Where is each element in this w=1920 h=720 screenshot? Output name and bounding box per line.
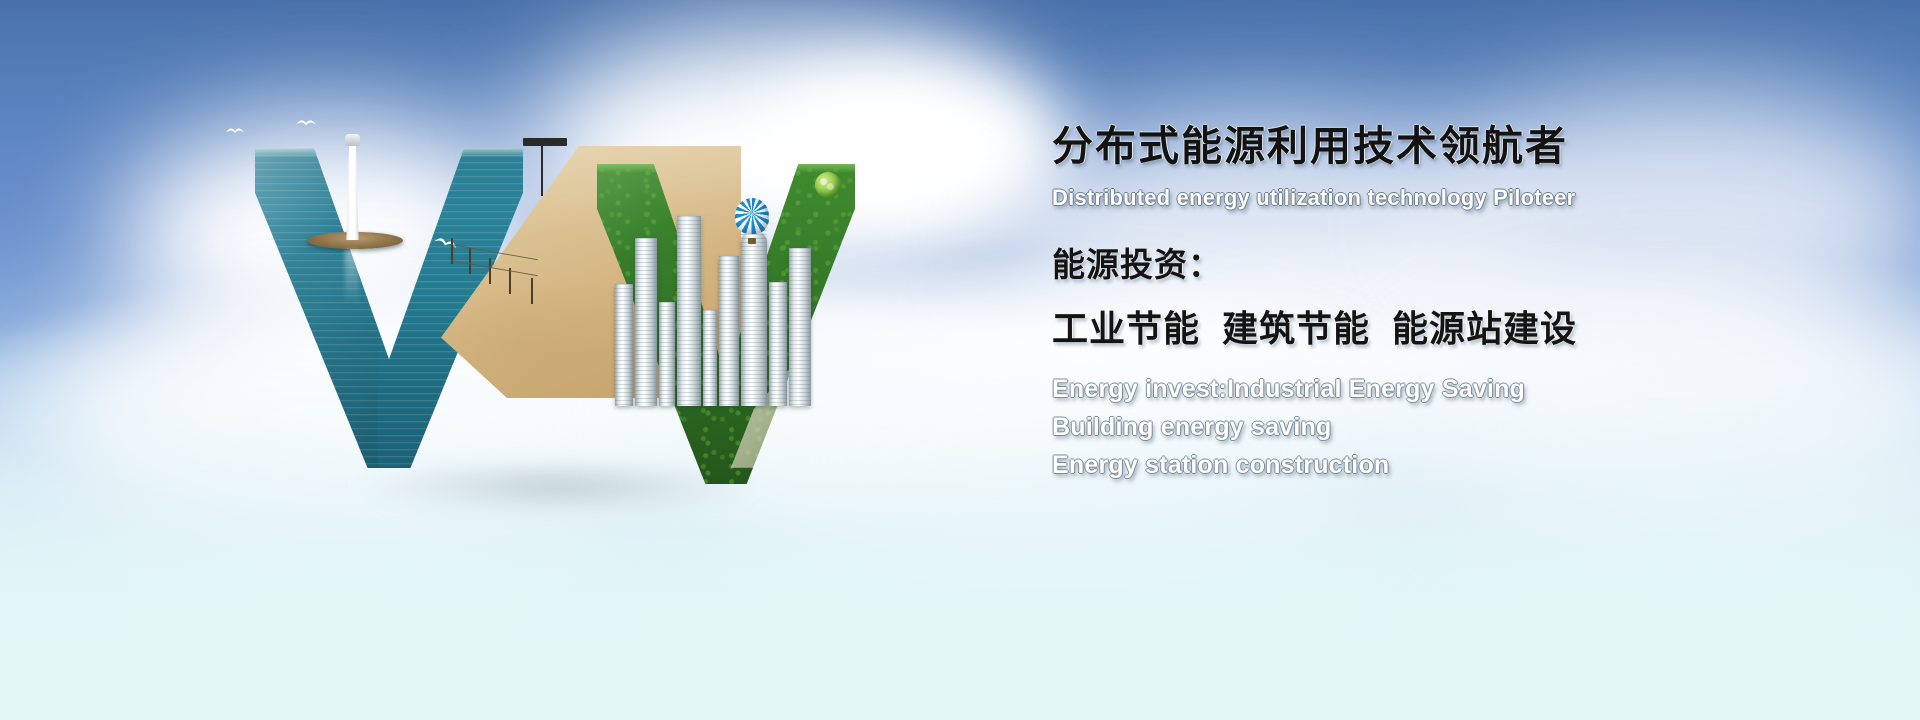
skyscraper (789, 248, 811, 406)
banner-copy: 分布式能源利用技术领航者 Distributed energy utilizat… (1052, 122, 1882, 484)
service-item-2: 建筑节能 (1222, 308, 1370, 349)
seagull-icon (225, 126, 245, 135)
ocean-side-face (255, 148, 378, 468)
fence-post (509, 268, 511, 294)
english-service-list: Energy invest:Industrial Energy Saving B… (1052, 370, 1882, 484)
skyscraper (659, 302, 675, 406)
service-item-1: 工业节能 (1052, 308, 1200, 349)
skyscraper (719, 256, 739, 406)
green-globe-icon (815, 172, 841, 198)
skyscraper (703, 310, 717, 406)
headline-chinese: 分布式能源利用技术领航者 (1052, 122, 1882, 170)
balloon-basket (748, 238, 756, 244)
signpost-icon (541, 144, 543, 196)
fence-post (489, 258, 491, 284)
skyscraper (741, 230, 767, 406)
skyscraper-cluster (611, 196, 821, 406)
service-item-3: 能源站建设 (1392, 308, 1577, 349)
fence-post (469, 248, 471, 274)
skyscraper (677, 216, 701, 406)
w-letter-artwork (245, 120, 855, 520)
balloon-envelope (735, 198, 769, 234)
lead-chinese: 能源投资： (1052, 238, 1882, 286)
subheadline-english: Distributed energy utilization technolog… (1052, 185, 1882, 211)
skyscraper (635, 238, 657, 406)
english-service-line: Energy station construction (1052, 446, 1882, 484)
seagull-icon (295, 118, 317, 127)
fence-post (531, 278, 533, 304)
skyscraper (769, 282, 787, 406)
skyscraper (615, 284, 633, 406)
services-chinese: 工业节能建筑节能能源站建设 (1052, 300, 1882, 352)
english-service-line: Building energy saving (1052, 408, 1882, 446)
english-service-line: Energy invest:Industrial Energy Saving (1052, 370, 1882, 408)
lighthouse-reflection (345, 250, 359, 304)
hot-air-balloon-icon (735, 198, 769, 244)
lighthouse-icon (344, 142, 361, 240)
energy-hero-banner: 分布式能源利用技术领航者 Distributed energy utilizat… (0, 0, 1920, 720)
lighthouse-lamp-icon (345, 134, 360, 146)
